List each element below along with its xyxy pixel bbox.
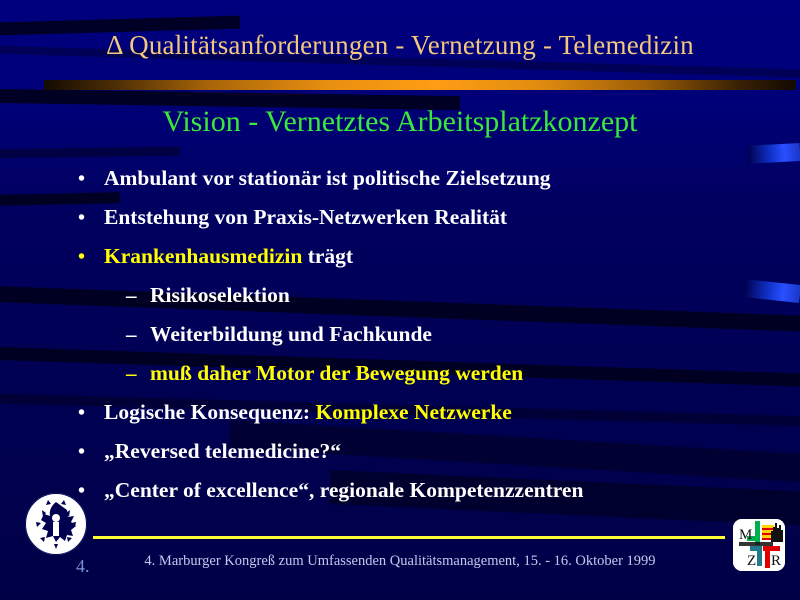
bullet-text: muß daher Motor der Bewegung werden [150,361,523,386]
bullet-text-segment: „Reversed telemedicine?“ [104,439,341,463]
sub-bullet-item: –muß daher Motor der Bewegung werden [78,361,778,400]
bullet-text-segment: Risikoselektion [150,283,290,307]
bullet-text: Weiterbildung und Fachkunde [150,322,432,347]
slide-title: Δ Qualitätsanforderungen - Vernetzung - … [0,30,800,61]
page-number: 4. [76,556,90,577]
bullet-text: Entstehung von Praxis-Netzwerken Realitä… [104,205,507,230]
bullet-item: •Logische Konsequenz: Komplexe Netzwerke [78,400,778,439]
bullet-text-segment: Logische Konsequenz: [104,400,315,424]
sub-bullet-marker: – [126,324,150,345]
sub-bullet-marker: – [126,285,150,306]
bullet-text-segment: Entstehung von Praxis-Netzwerken Realitä… [104,205,507,229]
bullet-text: „Reversed telemedicine?“ [104,439,341,464]
bullet-marker: • [78,403,104,423]
svg-text:R: R [771,553,781,569]
bullet-marker: • [78,247,104,267]
presentation-slide: Δ Qualitätsanforderungen - Vernetzung - … [0,0,800,600]
footer-divider-line [93,536,725,539]
bullet-text-segment: muß daher Motor der Bewegung werden [150,361,523,385]
bullet-marker: • [78,169,104,189]
bullet-text-segment: trägt [302,244,353,268]
bullet-item: •„Reversed telemedicine?“ [78,439,778,478]
bullet-marker: • [78,208,104,228]
bullet-item: •Ambulant vor stationär ist politische Z… [78,166,778,205]
bullet-item: •Entstehung von Praxis-Netzwerken Realit… [78,205,778,244]
svg-text:Z: Z [747,553,756,569]
sub-bullet-item: –Weiterbildung und Fachkunde [78,322,778,361]
bullet-text-segment: Krankenhausmedizin [104,244,302,268]
svg-text:M: M [739,527,752,543]
bullet-text: Risikoselektion [150,283,290,308]
bullet-text: „Center of excellence“, regionale Kompet… [104,478,583,503]
slide-subtitle: Vision - Vernetztes Arbeitsplatzkonzept [0,105,800,139]
bullet-text: Krankenhausmedizin trägt [104,244,353,269]
bullet-text-segment: Komplexe Netzwerke [315,400,511,424]
bullet-text: Ambulant vor stationär ist politische Zi… [104,166,551,191]
mzr-logo-icon: M Z R [733,519,785,571]
bullet-marker: • [78,442,104,462]
bullet-list: •Ambulant vor stationär ist politische Z… [78,166,778,517]
bullet-text-segment: Weiterbildung und Fachkunde [150,322,432,346]
bullet-text-segment: „Center of excellence“, regionale Kompet… [104,478,583,502]
title-divider-bar [44,80,796,90]
sub-bullet-marker: – [126,363,150,384]
footer-text: 4. Marburger Kongreß zum Umfassenden Qua… [0,553,800,570]
bullet-item: •Krankenhausmedizin trägt [78,244,778,283]
accent-stripe-top [748,143,800,164]
sub-bullet-item: –Risikoselektion [78,283,778,322]
bullet-text: Logische Konsequenz: Komplexe Netzwerke [104,400,512,425]
bullet-item: •„Center of excellence“, regionale Kompe… [78,478,778,517]
bullet-text-segment: Ambulant vor stationär ist politische Zi… [104,166,551,190]
university-seal-icon [24,492,88,556]
